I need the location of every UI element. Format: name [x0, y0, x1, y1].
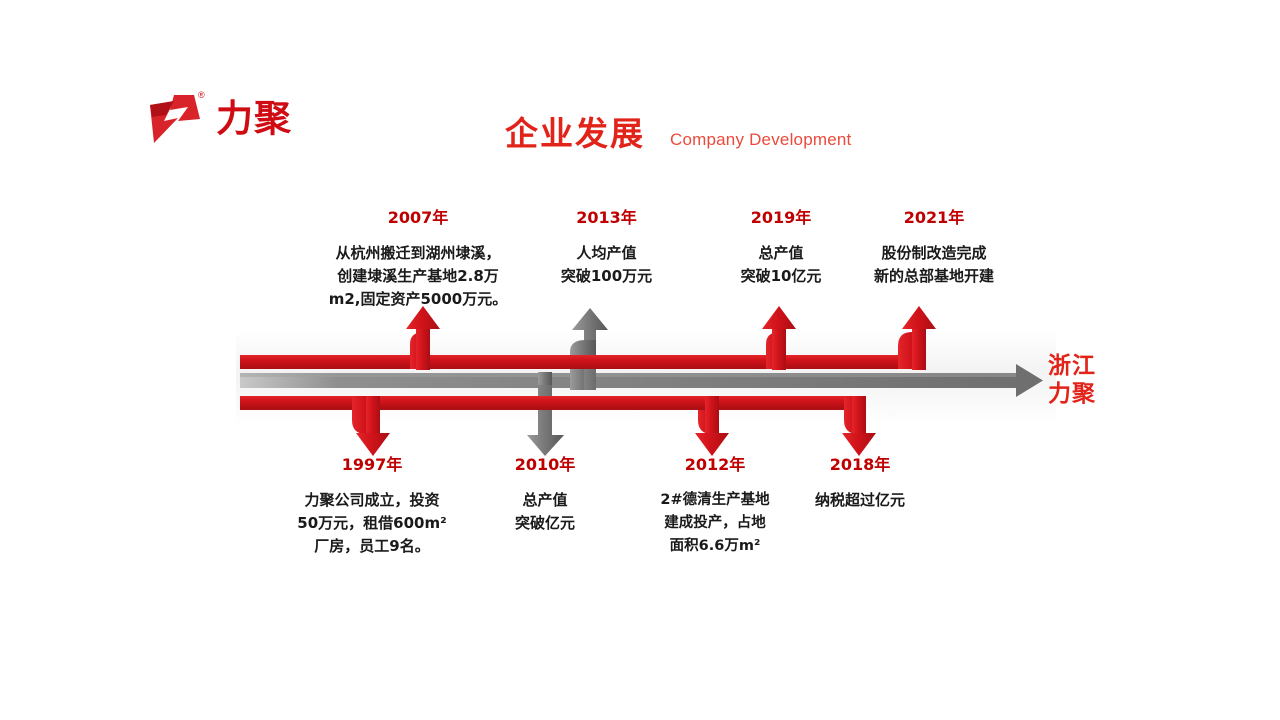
desc-line: 面积6.6万m² — [645, 535, 785, 558]
desc-line: 人均产值 — [529, 242, 684, 265]
milestone-2019: 2019年 总产值 突破10亿元 — [706, 208, 856, 288]
milestone-year: 2021年 — [849, 208, 1019, 228]
end-label-line1: 浙江 — [1048, 352, 1096, 380]
desc-line: 创建埭溪生产基地2.8万 — [312, 265, 524, 288]
milestone-description: 人均产值 突破100万元 — [529, 242, 684, 288]
milestone-2013: 2013年 人均产值 突破100万元 — [529, 208, 684, 288]
milestone-2018: 2018年 纳税超过亿元 — [790, 455, 930, 512]
milestone-2021: 2021年 股份制改造完成 新的总部基地开建 — [849, 208, 1019, 288]
milestone-1997: 1997年 力聚公司成立，投资 50万元，租借600m² 厂房，员工9名。 — [268, 455, 476, 558]
milestone-2007: 2007年 从杭州搬迁到湖州埭溪， 创建埭溪生产基地2.8万 m2,固定资产50… — [312, 208, 524, 311]
desc-line: 总产值 — [483, 489, 607, 512]
desc-line: 力聚公司成立，投资 — [268, 489, 476, 512]
milestone-year: 2007年 — [312, 208, 524, 228]
milestone-description: 从杭州搬迁到湖州埭溪， 创建埭溪生产基地2.8万 m2,固定资产5000万元。 — [312, 242, 524, 311]
desc-line: 2#德清生产基地 — [645, 489, 785, 512]
milestone-description: 总产值 突破亿元 — [483, 489, 607, 535]
milestone-year: 2018年 — [790, 455, 930, 475]
milestone-year: 2019年 — [706, 208, 856, 228]
desc-line: 新的总部基地开建 — [849, 265, 1019, 288]
milestone-year: 1997年 — [268, 455, 476, 475]
milestone-year: 2010年 — [483, 455, 607, 475]
desc-line: 建成投产，占地 — [645, 512, 785, 535]
desc-line: 突破亿元 — [483, 512, 607, 535]
desc-line: 厂房，员工9名。 — [268, 535, 476, 558]
milestone-description: 力聚公司成立，投资 50万元，租借600m² 厂房，员工9名。 — [268, 489, 476, 558]
milestone-year: 2012年 — [645, 455, 785, 475]
milestone-2010: 2010年 总产值 突破亿元 — [483, 455, 607, 535]
slide-canvas: ® 力聚 企业发展 Company Development — [0, 0, 1280, 720]
desc-line: 从杭州搬迁到湖州埭溪， — [312, 242, 524, 265]
milestone-description: 股份制改造完成 新的总部基地开建 — [849, 242, 1019, 288]
desc-line: 股份制改造完成 — [849, 242, 1019, 265]
desc-line: 总产值 — [706, 242, 856, 265]
end-label-line2: 力聚 — [1048, 380, 1096, 408]
milestone-year: 2013年 — [529, 208, 684, 228]
desc-line: 纳税超过亿元 — [790, 489, 930, 512]
desc-line: 突破100万元 — [529, 265, 684, 288]
desc-line: 50万元，租借600m² — [268, 512, 476, 535]
milestone-description: 2#德清生产基地 建成投产，占地 面积6.6万m² — [645, 489, 785, 558]
milestone-description: 总产值 突破10亿元 — [706, 242, 856, 288]
milestone-2012: 2012年 2#德清生产基地 建成投产，占地 面积6.6万m² — [645, 455, 785, 558]
timeline-end-label: 浙江 力聚 — [1048, 352, 1096, 408]
milestone-description: 纳税超过亿元 — [790, 489, 930, 512]
desc-line: 突破10亿元 — [706, 265, 856, 288]
desc-line: m2,固定资产5000万元。 — [312, 288, 524, 311]
